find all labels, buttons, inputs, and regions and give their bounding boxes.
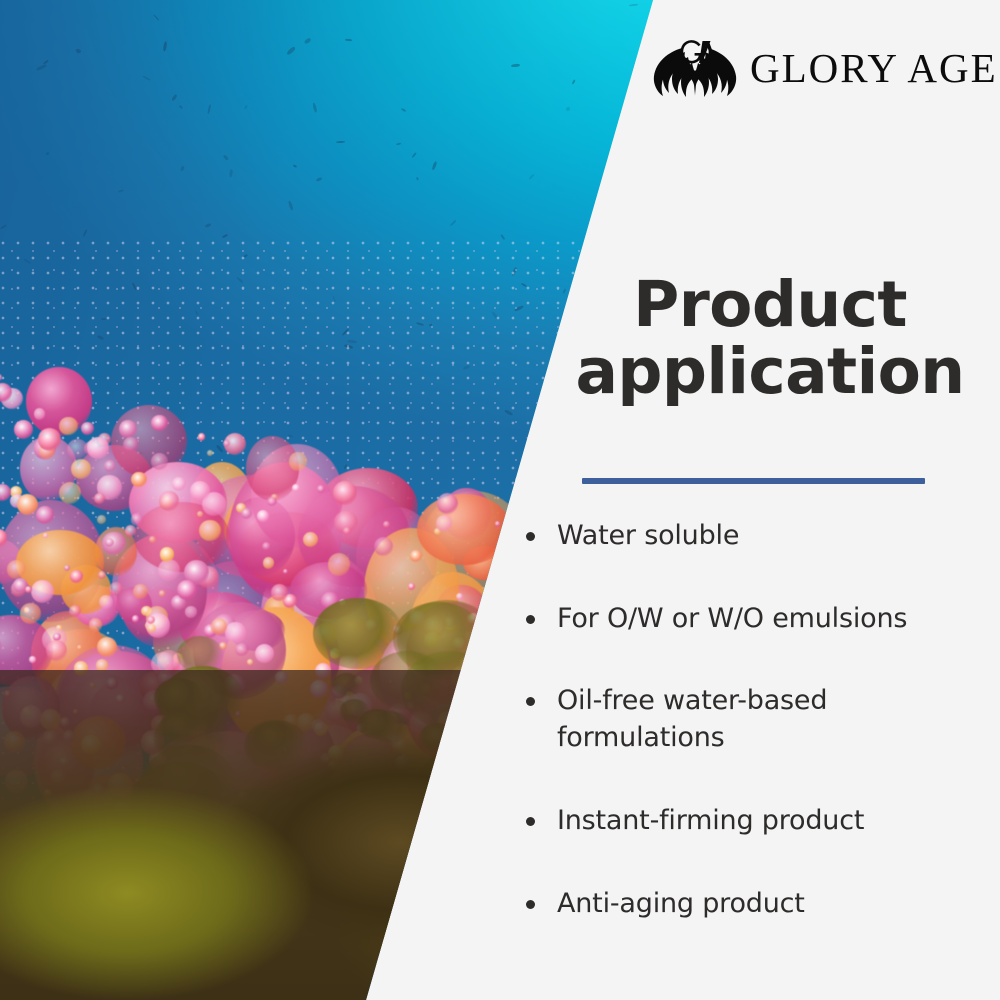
coral-polyp xyxy=(442,931,466,955)
list-item-label: Oil-free water-based formulations xyxy=(557,683,967,756)
coral-branch xyxy=(383,899,476,1000)
coral-polyp xyxy=(133,584,148,599)
coral-polyp xyxy=(241,508,252,519)
coral-polyp xyxy=(418,870,438,890)
coral-polyp xyxy=(207,450,213,456)
coral-polyp xyxy=(468,659,473,664)
feature-bullet-list: Water solubleFor O/W or W/O emulsionsOil… xyxy=(522,518,1000,922)
list-item-label: Water soluble xyxy=(557,518,739,555)
coral-polyp xyxy=(94,493,105,504)
coral-polyp xyxy=(119,420,137,438)
coral-polyp xyxy=(190,481,210,501)
list-item-label: For O/W or W/O emulsions xyxy=(557,601,907,638)
coral-polyp xyxy=(158,559,180,581)
coral-polyp xyxy=(131,472,147,488)
coral-polyp xyxy=(464,653,480,669)
coral-polyp xyxy=(479,685,492,698)
coral-polyp xyxy=(14,420,33,439)
coral-polyp xyxy=(471,857,479,865)
coral-polyp xyxy=(393,909,402,918)
title-divider-rule xyxy=(582,478,925,484)
list-item-label: Anti-aging product xyxy=(557,886,805,923)
coral-polyp xyxy=(71,459,91,479)
coral-polyp xyxy=(456,593,463,600)
coral-polyp xyxy=(7,560,25,578)
list-item: Anti-aging product xyxy=(522,886,1000,923)
bullet-dot-icon xyxy=(526,615,535,624)
coral-polyp xyxy=(43,533,48,538)
coral-polyp xyxy=(415,889,433,907)
coral-polyp xyxy=(20,603,40,623)
coral-branch xyxy=(392,926,455,987)
coral-polyp xyxy=(443,759,459,775)
list-item-label: Instant-firming product xyxy=(557,803,864,840)
coral-polyp xyxy=(147,616,155,624)
coral-polyp xyxy=(292,484,300,492)
coral-polyp xyxy=(436,515,452,531)
page-title: Product application xyxy=(540,272,1000,406)
coral-polyp xyxy=(89,618,102,631)
coral-polyp xyxy=(482,955,491,964)
coral-polyp xyxy=(81,422,94,435)
coral-polyp xyxy=(333,481,357,505)
coral-polyp xyxy=(271,584,288,601)
coral-branch xyxy=(440,902,475,943)
bullet-dot-icon xyxy=(526,817,535,826)
coral-polyp xyxy=(67,439,87,459)
coral-polyp xyxy=(125,525,137,537)
sea-fan xyxy=(396,897,442,934)
list-item: Oil-free water-based formulations xyxy=(522,683,1000,756)
coral-polyp xyxy=(87,437,109,459)
fish-speck xyxy=(45,151,49,155)
coral-polyp xyxy=(159,491,179,511)
list-item: For O/W or W/O emulsions xyxy=(522,601,1000,638)
coral-polyp xyxy=(36,506,54,524)
coral-polyp xyxy=(70,570,83,583)
coral-polyp xyxy=(464,806,476,818)
coral-polyp xyxy=(439,771,458,790)
coral-polyp xyxy=(235,643,249,657)
coral-branch xyxy=(412,826,507,917)
coral-polyp xyxy=(131,513,143,525)
coral-polyp xyxy=(132,615,139,622)
brand-logo[interactable]: GLORY AGE xyxy=(652,32,998,104)
coral-polyp xyxy=(225,622,245,642)
list-item: Water soluble xyxy=(522,518,1000,555)
coral-branch xyxy=(427,798,487,853)
bullet-dot-icon xyxy=(526,900,535,909)
coral-polyp xyxy=(29,656,36,663)
coral-polyp xyxy=(185,606,196,617)
coral-branch xyxy=(417,847,449,881)
coral-polyp xyxy=(64,565,70,571)
coral-polyp xyxy=(59,417,78,436)
coral-polyp xyxy=(467,900,475,908)
coral-polyp xyxy=(267,497,276,506)
coral-polyp xyxy=(374,537,393,556)
coral-branch xyxy=(410,856,454,898)
coral-polyp xyxy=(413,932,435,954)
coral-branch xyxy=(417,494,510,565)
coral-polyp xyxy=(455,741,467,753)
coral-polyp xyxy=(263,557,274,568)
bullet-dot-icon xyxy=(526,532,535,541)
coral-polyp xyxy=(38,428,61,451)
glory-age-winged-monogram-icon xyxy=(652,32,738,104)
coral-polyp xyxy=(472,647,497,672)
coral-branch xyxy=(432,856,485,917)
bullet-dot-icon xyxy=(526,697,535,706)
coral-branch xyxy=(438,937,506,1000)
coral-polyp xyxy=(479,937,490,948)
page-title-line-1: Product xyxy=(540,272,1000,339)
coral-polyp xyxy=(34,408,46,420)
brand-name: GLORY AGE xyxy=(750,48,998,89)
slide-canvas: GLORY AGE Product application Water solu… xyxy=(0,0,1000,1000)
coral-polyp xyxy=(104,460,116,472)
coral-polyp xyxy=(46,640,67,661)
coral-polyp xyxy=(391,916,414,939)
coral-polyp xyxy=(97,515,106,524)
page-title-line-2: application xyxy=(540,339,1000,406)
coral-polyp xyxy=(247,659,253,665)
coral-polyp xyxy=(401,982,410,991)
coral-polyp xyxy=(410,550,422,562)
coral-polyp xyxy=(461,725,480,744)
coral-polyp xyxy=(472,684,486,698)
coral-polyp xyxy=(123,437,139,453)
content-panel: GLORY AGE Product application Water solu… xyxy=(500,0,1000,1000)
coral-polyp xyxy=(177,580,197,600)
sea-fan xyxy=(398,897,459,946)
list-item: Instant-firming product xyxy=(522,803,1000,840)
coral-polyp xyxy=(470,890,490,910)
